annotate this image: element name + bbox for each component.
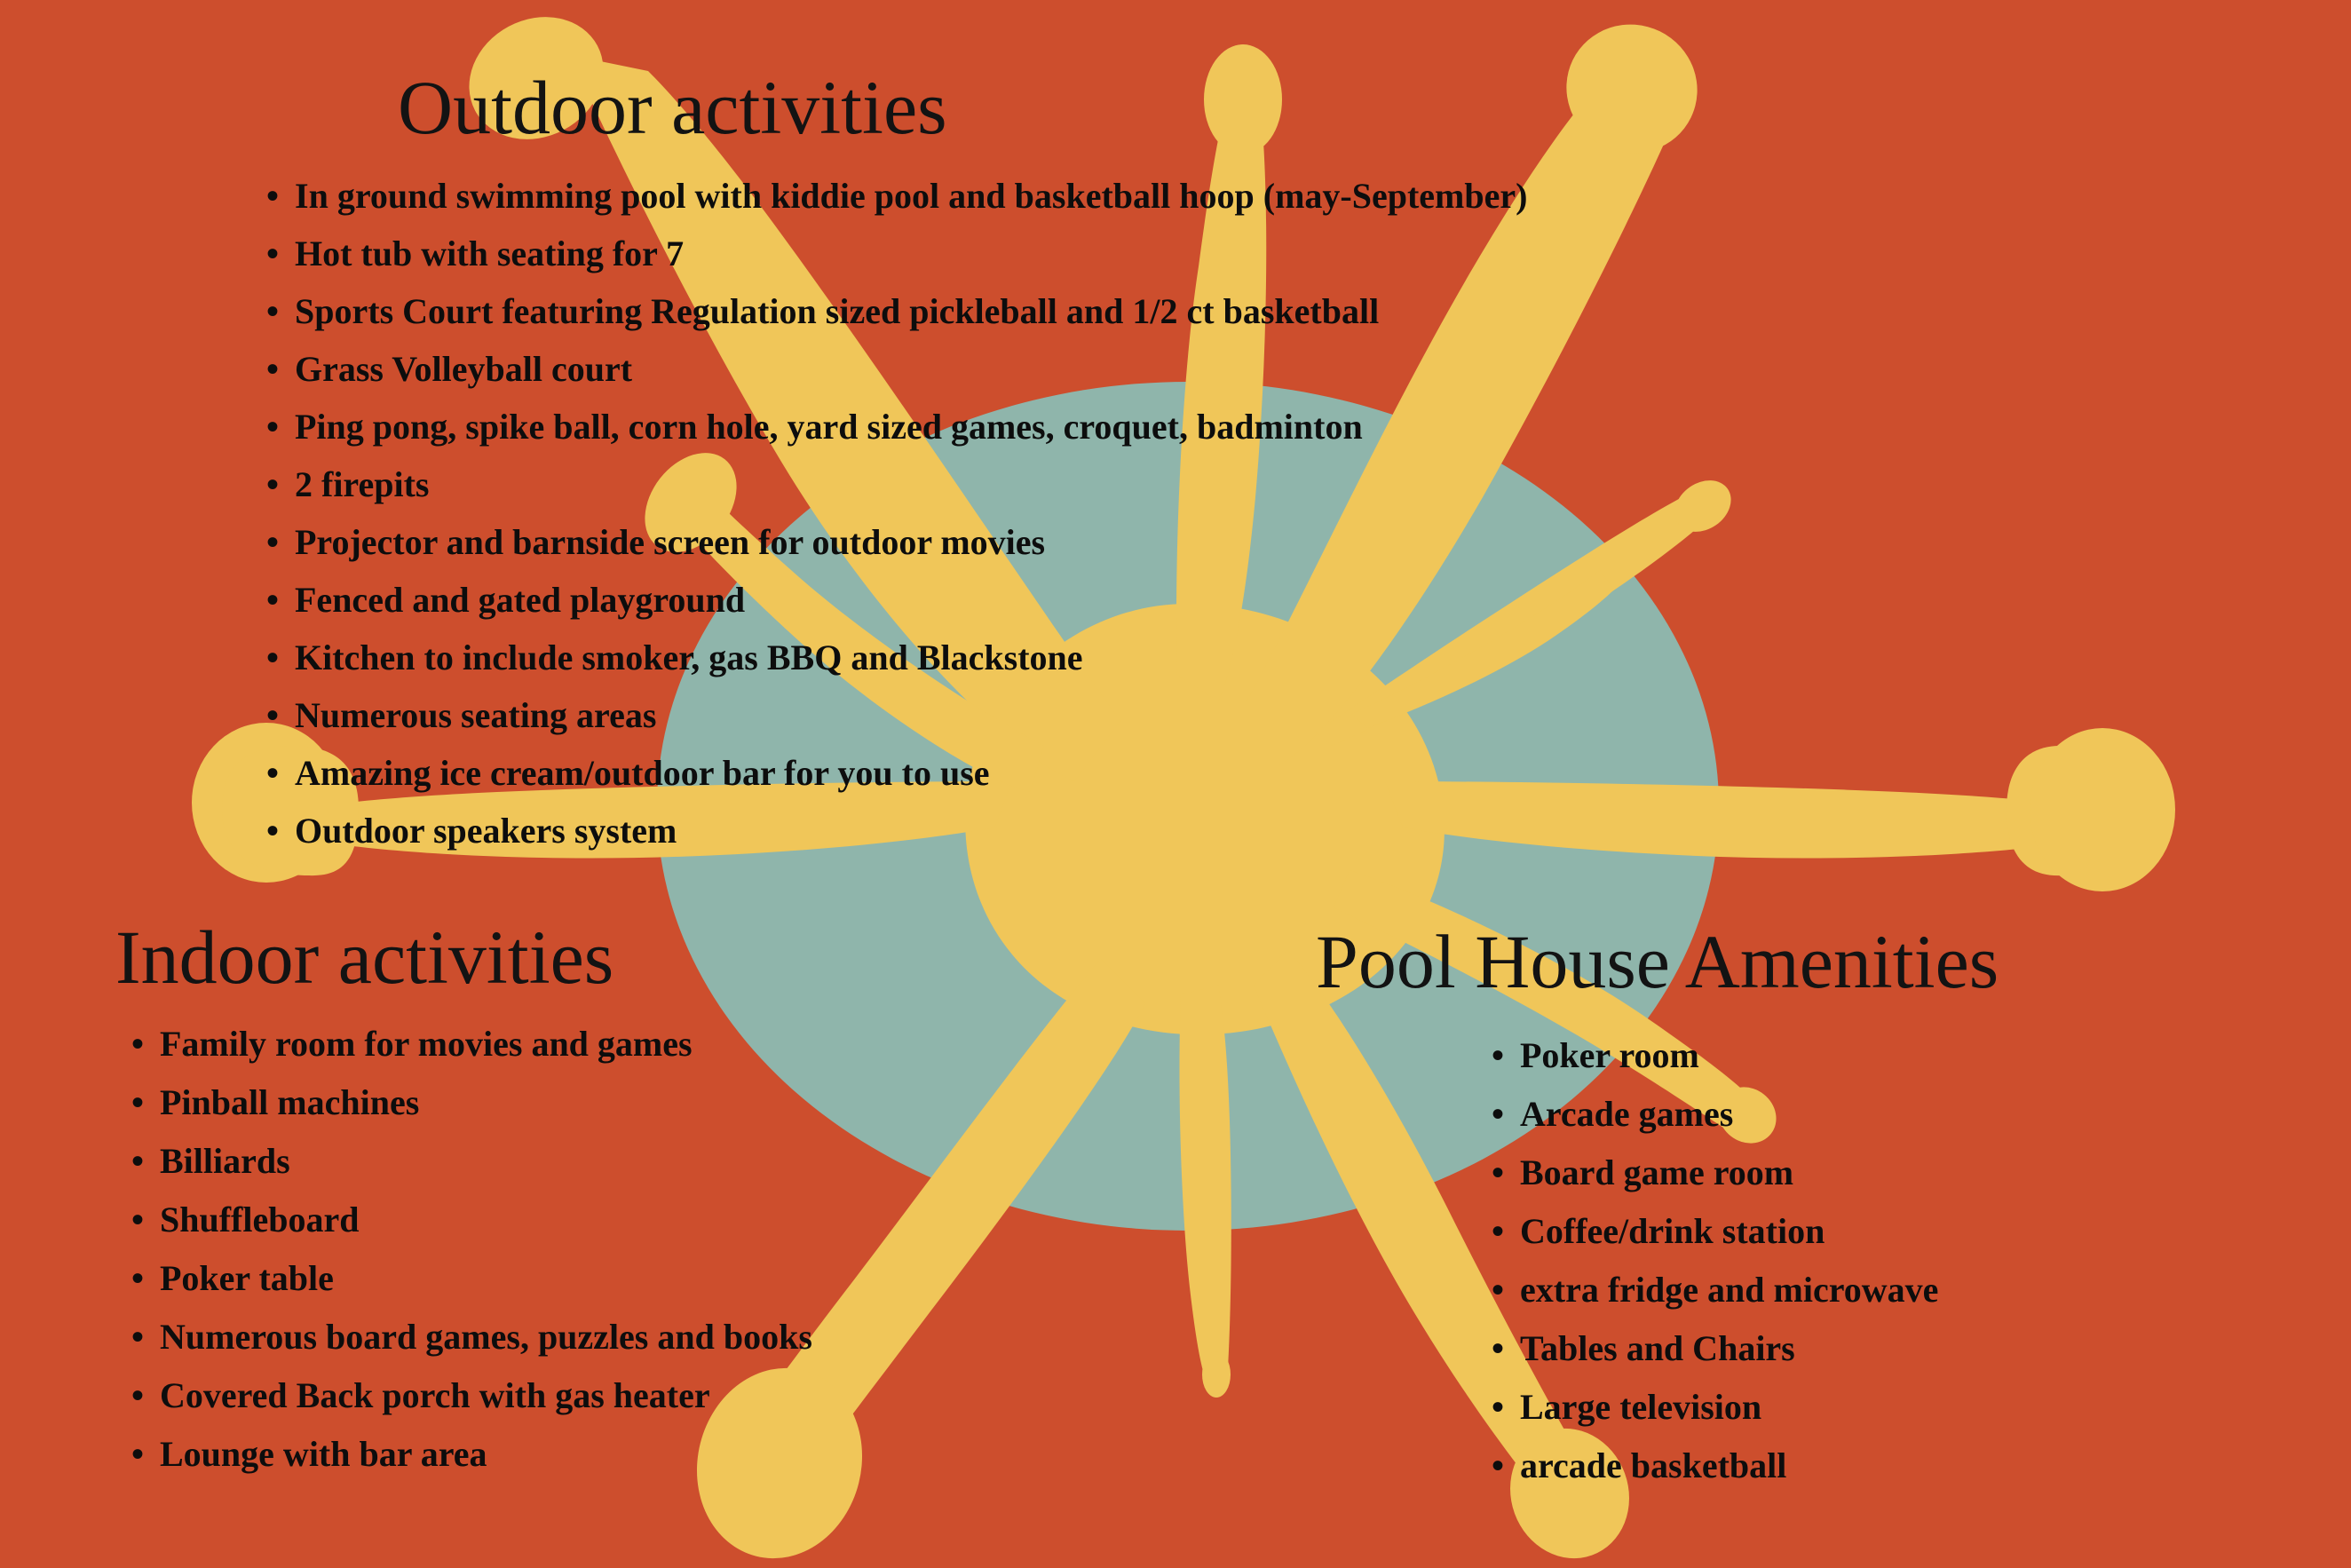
- list-item-label: Ping pong, spike ball, corn hole, yard s…: [295, 398, 1363, 455]
- pool-house-title: Pool House Amenities: [1316, 923, 2310, 1000]
- bullet-icon: •: [131, 1366, 144, 1425]
- list-item-label: Covered Back porch with gas heater: [160, 1366, 710, 1425]
- list-item: • arcade basketball: [1492, 1437, 2310, 1495]
- list-item-label: arcade basketball: [1520, 1437, 1786, 1495]
- list-item: • Large television: [1492, 1378, 2310, 1437]
- indoor-title: Indoor activities: [115, 919, 1092, 995]
- list-item-label: Poker room: [1520, 1026, 1699, 1085]
- list-item-label: Lounge with bar area: [160, 1425, 487, 1484]
- bullet-icon: •: [266, 398, 279, 455]
- list-item: • extra fridge and microwave: [1492, 1261, 2310, 1319]
- list-item-label: Shuffleboard: [160, 1191, 360, 1249]
- list-item-label: Poker table: [160, 1249, 334, 1308]
- list-item-label: Amazing ice cream/outdoor bar for you to…: [295, 744, 990, 802]
- bullet-icon: •: [266, 571, 279, 629]
- bullet-icon: •: [266, 744, 279, 802]
- list-item: • Tables and Chairs: [1492, 1319, 2310, 1378]
- list-item: • Family room for movies and games: [131, 1015, 1092, 1073]
- list-item: • In ground swimming pool with kiddie po…: [266, 167, 1776, 225]
- amenities-poster: Outdoor activities • In ground swimming …: [0, 0, 2351, 1568]
- list-item: • Projector and barnside screen for outd…: [266, 513, 1776, 571]
- bullet-icon: •: [131, 1191, 144, 1249]
- list-item-label: Tables and Chairs: [1520, 1319, 1795, 1378]
- section-outdoor: Outdoor activities • In ground swimming …: [266, 69, 1776, 859]
- list-item-label: Arcade games: [1520, 1085, 1733, 1144]
- list-item-label: Outdoor speakers system: [295, 802, 677, 859]
- section-indoor: Indoor activities • Family room for movi…: [115, 919, 1092, 1484]
- list-item-label: 2 firepits: [295, 455, 429, 513]
- list-item-label: Numerous seating areas: [295, 686, 656, 744]
- list-item-label: Board game room: [1520, 1144, 1793, 1202]
- bullet-icon: •: [131, 1308, 144, 1366]
- list-item: • Board game room: [1492, 1144, 2310, 1202]
- list-item: • Numerous board games, puzzles and book…: [131, 1308, 1092, 1366]
- bullet-icon: •: [1492, 1319, 1504, 1378]
- list-item: • Pinball machines: [131, 1073, 1092, 1132]
- list-item: • Poker room: [1492, 1026, 2310, 1085]
- bullet-icon: •: [266, 340, 279, 398]
- list-item: • Hot tub with seating for 7: [266, 225, 1776, 282]
- list-item: • Sports Court featuring Regulation size…: [266, 282, 1776, 340]
- list-item: • Lounge with bar area: [131, 1425, 1092, 1484]
- list-item-label: Grass Volleyball court: [295, 340, 632, 398]
- list-item-label: Pinball machines: [160, 1073, 419, 1132]
- section-pool-house: Pool House Amenities • Poker room • Arca…: [1316, 923, 2310, 1495]
- list-item-label: Sports Court featuring Regulation sized …: [295, 282, 1379, 340]
- list-item: • 2 firepits: [266, 455, 1776, 513]
- list-item-label: Fenced and gated playground: [295, 571, 745, 629]
- list-item: • Ping pong, spike ball, corn hole, yard…: [266, 398, 1776, 455]
- pool-house-bullet-list: • Poker room • Arcade games • Board game…: [1492, 1026, 2310, 1495]
- list-item: • Kitchen to include smoker, gas BBQ and…: [266, 629, 1776, 686]
- list-item-label: Projector and barnside screen for outdoo…: [295, 513, 1045, 571]
- list-item: • Fenced and gated playground: [266, 571, 1776, 629]
- list-item-label: Family room for movies and games: [160, 1015, 693, 1073]
- bullet-icon: •: [131, 1073, 144, 1132]
- list-item-label: Large television: [1520, 1378, 1761, 1437]
- bullet-icon: •: [1492, 1437, 1504, 1495]
- bullet-icon: •: [266, 629, 279, 686]
- indoor-bullet-list: • Family room for movies and games • Pin…: [131, 1015, 1092, 1484]
- list-item: • Shuffleboard: [131, 1191, 1092, 1249]
- list-item-label: Hot tub with seating for 7: [295, 225, 684, 282]
- bullet-icon: •: [1492, 1026, 1504, 1085]
- bullet-icon: •: [266, 167, 279, 225]
- poster-text-layer: Outdoor activities • In ground swimming …: [0, 0, 2351, 1568]
- bullet-icon: •: [1492, 1085, 1504, 1144]
- bullet-icon: •: [266, 802, 279, 859]
- bullet-icon: •: [131, 1132, 144, 1191]
- bullet-icon: •: [266, 282, 279, 340]
- bullet-icon: •: [266, 455, 279, 513]
- bullet-icon: •: [131, 1249, 144, 1308]
- outdoor-title: Outdoor activities: [398, 69, 1776, 146]
- list-item: • Covered Back porch with gas heater: [131, 1366, 1092, 1425]
- list-item-label: extra fridge and microwave: [1520, 1261, 1938, 1319]
- list-item: • Arcade games: [1492, 1085, 2310, 1144]
- list-item-label: Numerous board games, puzzles and books: [160, 1308, 812, 1366]
- list-item: • Billiards: [131, 1132, 1092, 1191]
- list-item-label: Billiards: [160, 1132, 290, 1191]
- list-item: • Outdoor speakers system: [266, 802, 1776, 859]
- bullet-icon: •: [266, 225, 279, 282]
- list-item: • Grass Volleyball court: [266, 340, 1776, 398]
- list-item: • Poker table: [131, 1249, 1092, 1308]
- bullet-icon: •: [1492, 1261, 1504, 1319]
- bullet-icon: •: [1492, 1144, 1504, 1202]
- list-item-label: Kitchen to include smoker, gas BBQ and B…: [295, 629, 1083, 686]
- bullet-icon: •: [131, 1015, 144, 1073]
- bullet-icon: •: [131, 1425, 144, 1484]
- bullet-icon: •: [1492, 1378, 1504, 1437]
- list-item-label: In ground swimming pool with kiddie pool…: [295, 167, 1527, 225]
- list-item: • Coffee/drink station: [1492, 1202, 2310, 1261]
- bullet-icon: •: [1492, 1202, 1504, 1261]
- list-item: • Amazing ice cream/outdoor bar for you …: [266, 744, 1776, 802]
- bullet-icon: •: [266, 513, 279, 571]
- outdoor-bullet-list: • In ground swimming pool with kiddie po…: [266, 167, 1776, 859]
- list-item: • Numerous seating areas: [266, 686, 1776, 744]
- list-item-label: Coffee/drink station: [1520, 1202, 1825, 1261]
- bullet-icon: •: [266, 686, 279, 744]
